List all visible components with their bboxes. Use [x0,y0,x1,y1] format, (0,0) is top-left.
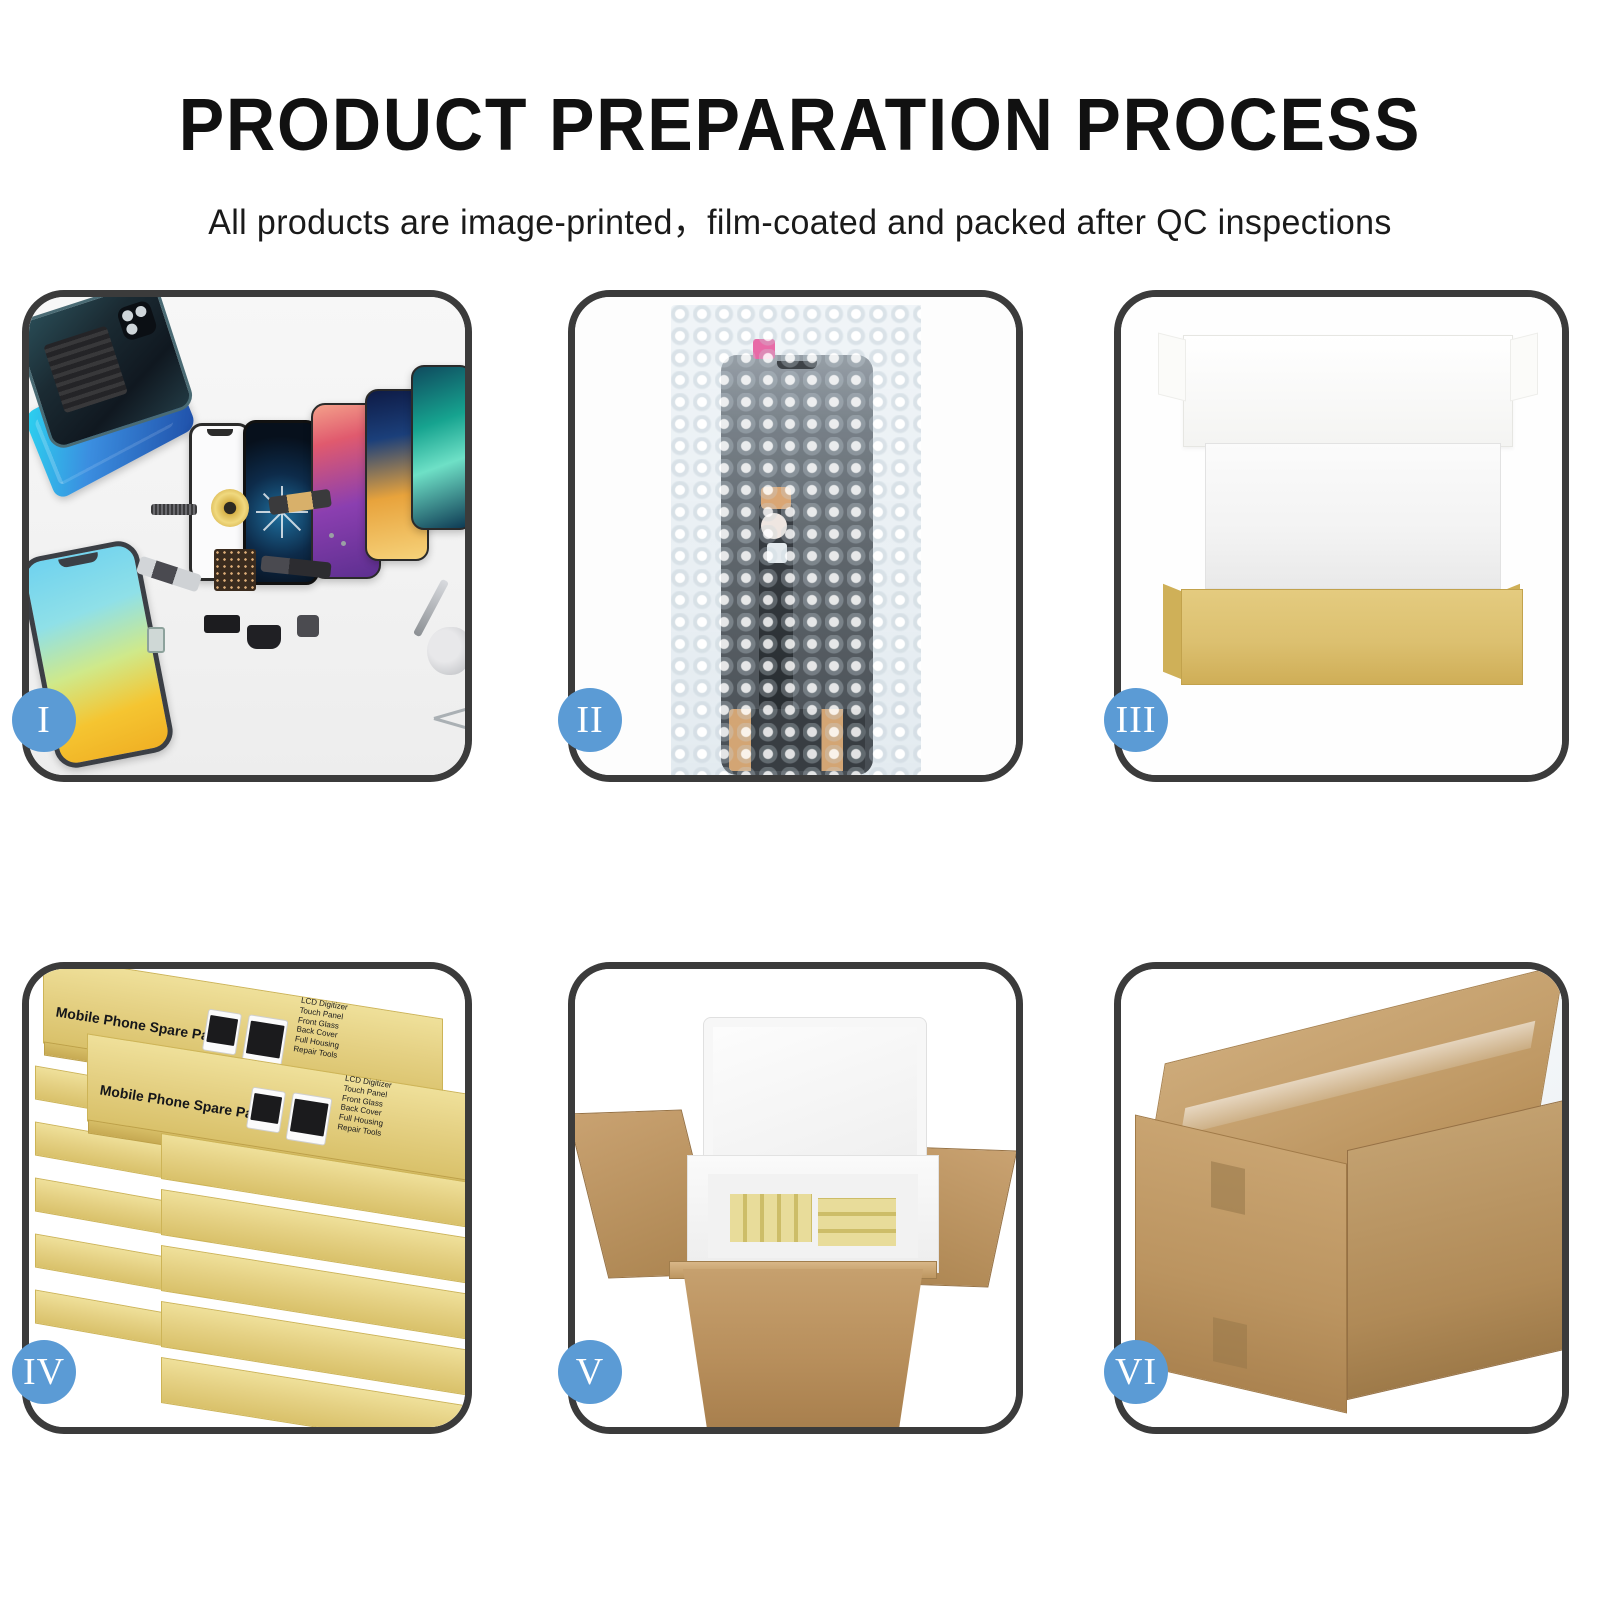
step-panel-5[interactable] [568,962,1023,1434]
box-phone-graphic [202,1009,242,1056]
step-badge-3[interactable]: III [1104,688,1168,752]
step-badge-1[interactable]: I [12,688,76,752]
screw-icon [341,541,346,546]
step-image-bubble-wrap [575,297,1016,775]
connector-icon [761,487,791,509]
step-badge-2[interactable]: II [558,688,622,752]
ic-chip-icon [214,549,256,591]
step-panel-3[interactable] [1114,290,1569,782]
foam-box-cavity [708,1174,918,1258]
box-phone-graphic [285,1092,332,1146]
camera-module-icon [116,299,159,342]
sim-tray-icon [147,627,165,653]
page-title: PRODUCT PREPARATION PROCESS [64,88,1536,162]
screw-icon [329,533,334,538]
step-image-inner-box [1121,297,1562,775]
vibrator-motor-icon [297,615,319,637]
step-panel-4[interactable]: Mobile Phone Spare Parts LCD Digitizer T… [22,962,472,1434]
retail-boxes-row-left [730,1194,812,1242]
teal-phone-icon [411,365,465,530]
box-phone-graphic [246,1087,286,1134]
foam-box-body-icon [687,1155,939,1273]
steps-grid: Mobile Phone Spare Parts LCD Digitizer T… [0,290,1600,1470]
foam-sheet-icon [1205,443,1501,589]
product-preparation-infographic: PRODUCT PREPARATION PROCESS All products… [0,0,1600,1600]
mailer-box-lid-icon [1183,335,1513,447]
tape-seal-icon [1213,1317,1247,1369]
step-image-sealed-carton [1121,969,1562,1427]
retail-box-checklist: LCD Digitizer Touch Panel Front Glass Ba… [293,996,349,1061]
header: PRODUCT PREPARATION PROCESS All products… [0,0,1600,245]
driver-ic-icon [767,543,787,563]
step-panel-2[interactable] [568,290,1023,782]
carton-body-icon [683,1269,923,1427]
step-panel-6[interactable] [1114,962,1569,1434]
carton-side-face-icon [1347,1100,1562,1400]
bubble-wrap-bag-icon [671,305,921,775]
speaker-mesh-icon [151,504,197,515]
step-badge-6[interactable]: VI [1104,1340,1168,1404]
tweezers-icon [434,705,465,731]
mailer-box-front-icon [1181,589,1523,685]
tape-seal-icon [1211,1161,1245,1215]
step-badge-4[interactable]: IV [12,1340,76,1404]
battery-connector-icon [204,615,240,633]
cleaning-brush-icon [427,627,465,675]
foam-box-lid-icon [703,1017,927,1165]
pink-tape-icon [753,339,775,359]
connector-strip-icon [729,709,865,771]
screen-assembly-icon [721,355,873,775]
step-badge-5[interactable]: V [558,1340,622,1404]
step-image-foam-carton [575,969,1016,1427]
earpiece-speaker-icon [247,625,281,649]
retail-boxes-row-right [818,1198,896,1246]
page-subtitle: All products are image-printed，film-coat… [24,194,1576,245]
phone-notch-icon [777,361,817,369]
retail-box-checklist: LCD Digitizer Touch Panel Front Glass Ba… [337,1074,393,1139]
wireless-coil-icon [211,489,249,527]
camera-hole-icon [761,513,787,539]
step-panel-1[interactable] [22,290,472,782]
step-image-parts-overview [29,297,465,775]
step-image-retail-boxes: Mobile Phone Spare Parts LCD Digitizer T… [29,969,465,1427]
